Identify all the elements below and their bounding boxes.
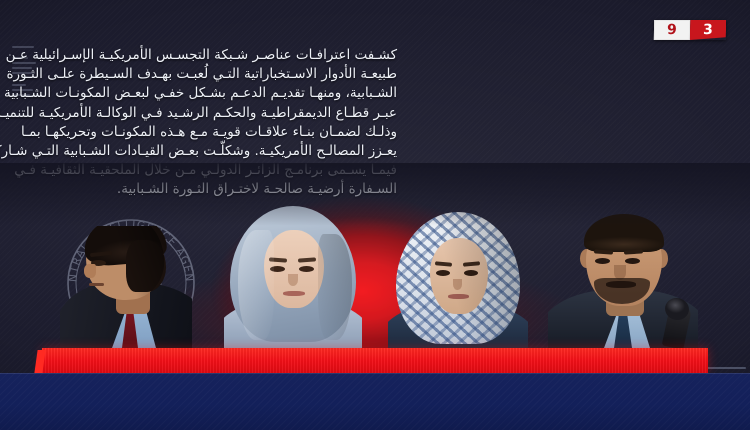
channel-logo: 9 3 (654, 20, 726, 40)
portrait-person-3 (388, 208, 528, 348)
portrait-person-1 (60, 226, 192, 348)
broadcast-graphic: CENTRAL INTELLIGENCE AGENCY 9 3 كشـفت اع… (0, 0, 750, 430)
portrait-strip (0, 163, 750, 348)
person-2-hijab-fold-left (238, 230, 274, 340)
banner-left-notch (34, 350, 45, 373)
person-2-eye-right (299, 266, 314, 272)
headline-line: يعـزز المصالـح الأمريكيـة. وشكلّـت بعـض … (40, 142, 397, 161)
person-2-nose (288, 274, 298, 286)
lower-third-red-banner (42, 348, 708, 373)
person-4-hair (584, 214, 664, 252)
headline-line: عبـر قطـاع الديمقراطيـة والحكـم الرشـيد … (40, 104, 397, 123)
headline-line: طبيعـة الأدوار الاسـتخباراتية التـي لُعب… (40, 65, 397, 84)
headline-line: كشـفت اعترافـات عناصـر شـبكة التجسـس الأ… (40, 46, 397, 65)
person-3-hijab-shading (396, 212, 520, 344)
portrait-person-4 (548, 208, 698, 348)
headline-line: الشـبابية، ومنهـا تقديـم الدعـم بشـكل خف… (40, 84, 397, 103)
person-2-hijab-fold-right (318, 234, 352, 340)
channel-logo-digit-right: 3 (690, 20, 726, 40)
footer-top-edge (0, 373, 750, 374)
person-2-mouth (283, 291, 305, 296)
person-4-eye-right (625, 258, 640, 264)
headline-line: وذلـك لضمـان بنـاء علاقـات قويـة مـع هـذ… (40, 123, 397, 142)
person-4-eye-left (595, 258, 610, 264)
portrait-person-2 (224, 203, 362, 348)
channel-logo-digit-left: 9 (654, 20, 690, 40)
footer-bar (0, 373, 750, 430)
